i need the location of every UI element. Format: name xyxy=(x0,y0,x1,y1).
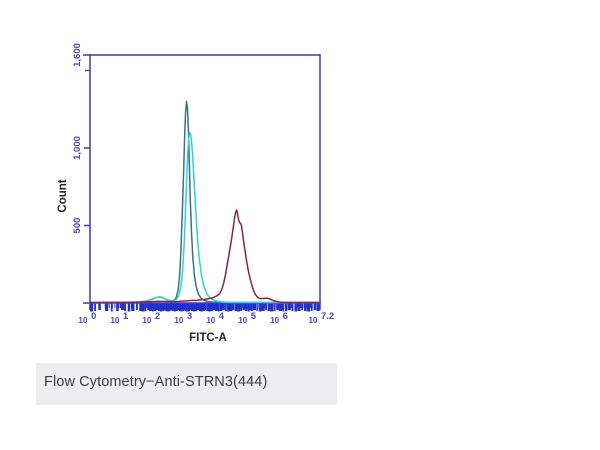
x-event-tick xyxy=(136,304,138,311)
series-unstained-control-dark-teal xyxy=(90,102,320,303)
x-event-tick xyxy=(158,304,160,312)
x-event-tick xyxy=(208,304,211,312)
x-tick-exponent: 3 xyxy=(187,311,192,322)
x-tick-label-10^6: 106 xyxy=(270,311,288,325)
x-axis-tick-labels: 100101102103104105106107.2 xyxy=(79,311,335,325)
figure-caption: Flow Cytometry−Anti-STRN3(444) xyxy=(44,374,267,390)
x-tick-base: 10 xyxy=(238,316,247,325)
x-axis-title: FITC-A xyxy=(189,332,227,344)
flow-cytometry-histogram: 5001,0001,600 Count 10010110210310410510… xyxy=(36,0,345,363)
x-event-tick xyxy=(204,304,206,311)
x-event-tick xyxy=(237,304,240,312)
x-event-tick xyxy=(139,304,142,312)
x-event-tick xyxy=(314,304,317,311)
screenshot-root: 5001,0001,600 Count 10010110210310410510… xyxy=(0,0,600,450)
x-event-tick xyxy=(276,304,279,311)
x-event-tick xyxy=(307,304,310,312)
x-event-tick xyxy=(240,304,242,312)
x-event-tick xyxy=(250,304,253,312)
series-traces xyxy=(90,102,320,303)
figure-card: 5001,0001,600 Count 10010110210310410510… xyxy=(36,0,345,363)
x-event-tick xyxy=(98,304,101,311)
x-event-tick xyxy=(233,304,235,311)
y-axis-ticks xyxy=(83,55,90,303)
x-event-tick xyxy=(268,304,271,312)
x-event-tick xyxy=(304,304,307,312)
x-tick-exponent: 0 xyxy=(91,311,96,322)
x-event-tick xyxy=(235,304,238,312)
y-tick-label-500: 500 xyxy=(72,218,83,234)
x-tick-label-10^0: 100 xyxy=(79,311,97,325)
x-event-tick xyxy=(248,304,250,312)
x-event-tick xyxy=(242,304,245,311)
x-event-tick xyxy=(116,304,119,312)
x-tick-base: 10 xyxy=(142,316,151,325)
x-event-tick xyxy=(253,304,256,311)
x-tick-exponent: 2 xyxy=(155,311,160,322)
plot-frame xyxy=(90,55,320,303)
x-tick-base: 10 xyxy=(79,316,88,325)
x-tick-label-10^4: 104 xyxy=(206,311,224,325)
x-event-tick xyxy=(227,304,230,312)
x-tick-exponent: 5 xyxy=(251,311,257,322)
x-event-tick xyxy=(292,304,294,312)
y-axis-tick-labels: 5001,0001,600 xyxy=(72,43,83,233)
x-event-tick xyxy=(124,304,126,312)
x-event-tick xyxy=(279,304,282,312)
x-event-tick xyxy=(270,304,273,312)
x-event-tick xyxy=(297,304,300,312)
x-event-tick xyxy=(225,304,227,312)
x-event-tick xyxy=(215,304,218,312)
x-event-tick xyxy=(121,304,124,311)
x-tick-base: 10 xyxy=(309,316,318,325)
x-tick-base: 10 xyxy=(174,316,183,325)
x-event-tick xyxy=(256,304,258,312)
x-tick-label-10^5: 105 xyxy=(238,311,256,325)
x-tick-base: 10 xyxy=(206,316,215,325)
x-event-tick xyxy=(131,304,134,312)
series-isotype-control-cyan xyxy=(90,133,320,303)
x-event-tick xyxy=(141,304,144,312)
x-event-tick xyxy=(145,304,147,312)
x-event-tick xyxy=(294,304,297,312)
x-event-tick xyxy=(285,304,288,312)
x-event-tick xyxy=(105,304,108,312)
plot-border xyxy=(90,55,320,303)
x-event-tick xyxy=(311,304,313,312)
x-event-tick xyxy=(211,304,213,312)
x-event-tick xyxy=(222,304,225,311)
y-tick-label-1600: 1,600 xyxy=(72,43,83,67)
x-event-tick xyxy=(164,304,166,311)
x-tick-exponent: 6 xyxy=(283,311,288,322)
x-event-tick xyxy=(274,304,276,312)
x-event-tick xyxy=(316,304,319,312)
x-tick-label-10^7.2: 107.2 xyxy=(309,311,335,325)
x-tick-label-10^2: 102 xyxy=(142,311,160,325)
x-event-tick xyxy=(149,304,152,312)
x-event-tick xyxy=(262,304,265,312)
x-tick-base: 10 xyxy=(110,316,119,325)
x-tick-exponent: 7.2 xyxy=(321,311,334,322)
x-tick-base: 10 xyxy=(270,316,279,325)
x-event-tick xyxy=(152,304,154,312)
x-event-tick xyxy=(259,304,262,312)
x-tick-label-10^1: 101 xyxy=(110,311,128,325)
x-event-tick xyxy=(94,304,96,312)
y-tick-label-1000: 1,000 xyxy=(72,136,83,160)
x-event-tick xyxy=(111,304,113,312)
x-event-tick xyxy=(265,304,267,311)
x-tick-exponent: 4 xyxy=(219,311,225,322)
x-event-tick xyxy=(245,304,248,312)
caption-bar: Flow Cytometry−Anti-STRN3(444) xyxy=(36,363,337,405)
x-event-tick xyxy=(199,304,201,312)
x-tick-label-10^3: 103 xyxy=(174,311,192,325)
histogram-svg: 5001,0001,600 Count 10010110210310410510… xyxy=(36,0,345,363)
y-axis-title: Count xyxy=(57,179,69,212)
x-event-tick xyxy=(288,304,291,311)
x-event-tick xyxy=(229,304,232,312)
x-tick-exponent: 1 xyxy=(123,311,129,322)
x-event-tick xyxy=(301,304,303,311)
